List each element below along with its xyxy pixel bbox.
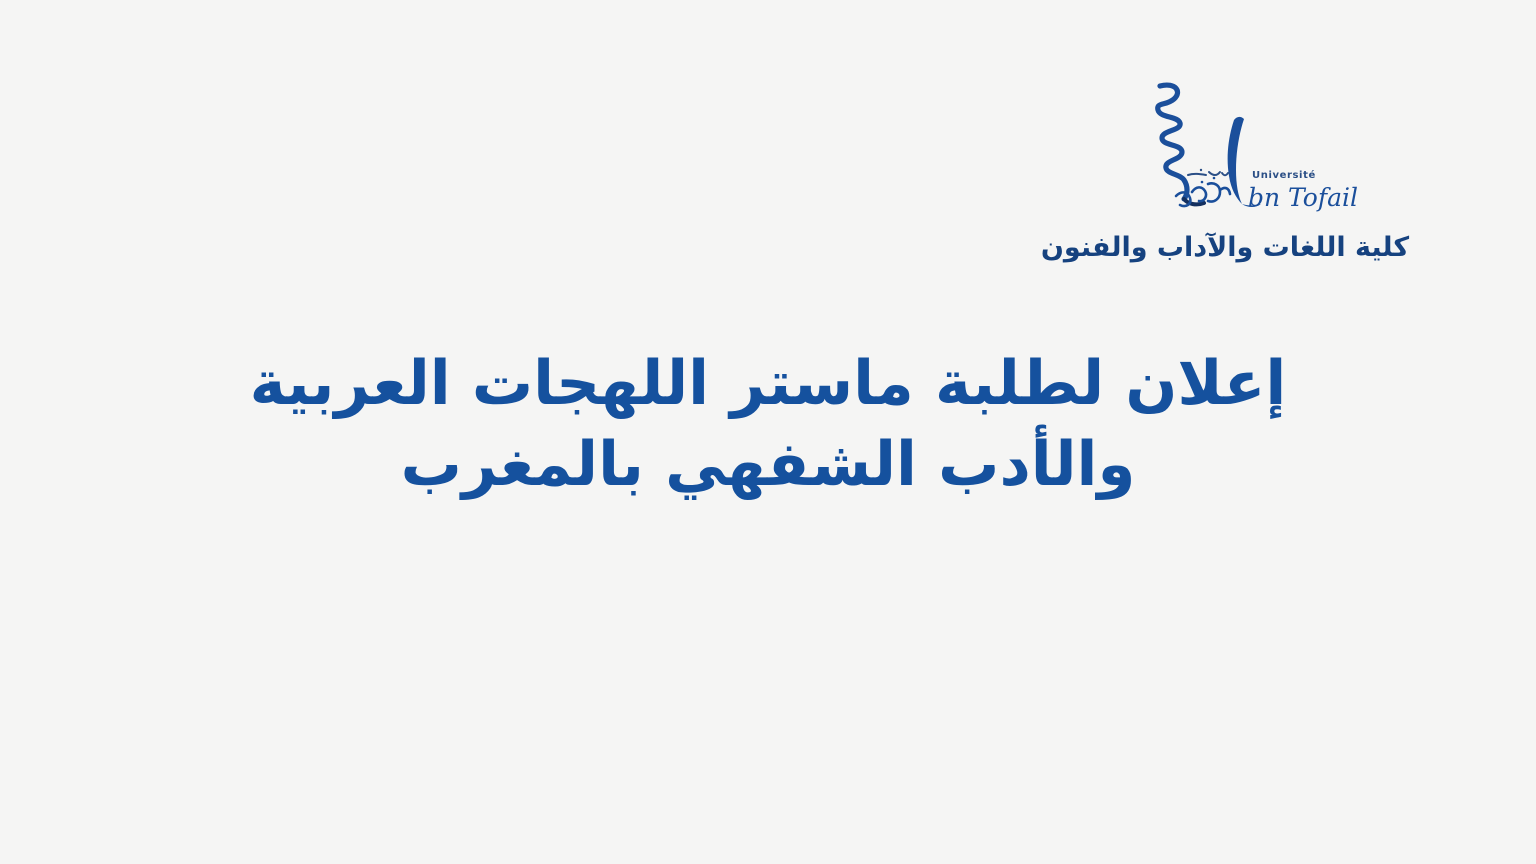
announcement-headline: إعلان لطلبة ماستر اللهجات العربية والأدب…: [0, 343, 1536, 505]
svg-text:Université: Université: [1252, 169, 1316, 181]
ibn-tofail-university-logo-icon: Université bn Tofail: [1130, 72, 1320, 222]
headline-line-1: إعلان لطلبة ماستر اللهجات العربية: [0, 343, 1536, 424]
svg-text:bn Tofail: bn Tofail: [1248, 183, 1358, 212]
faculty-name-label: كلية اللغات والآداب والفنون: [1041, 232, 1409, 263]
headline-line-2: والأدب الشفهي بالمغرب: [0, 424, 1536, 505]
announcement-poster: Université bn Tofail كلية اللغات والآداب…: [0, 0, 1536, 864]
university-brand-block: Université bn Tofail كلية اللغات والآداب…: [1040, 72, 1410, 263]
